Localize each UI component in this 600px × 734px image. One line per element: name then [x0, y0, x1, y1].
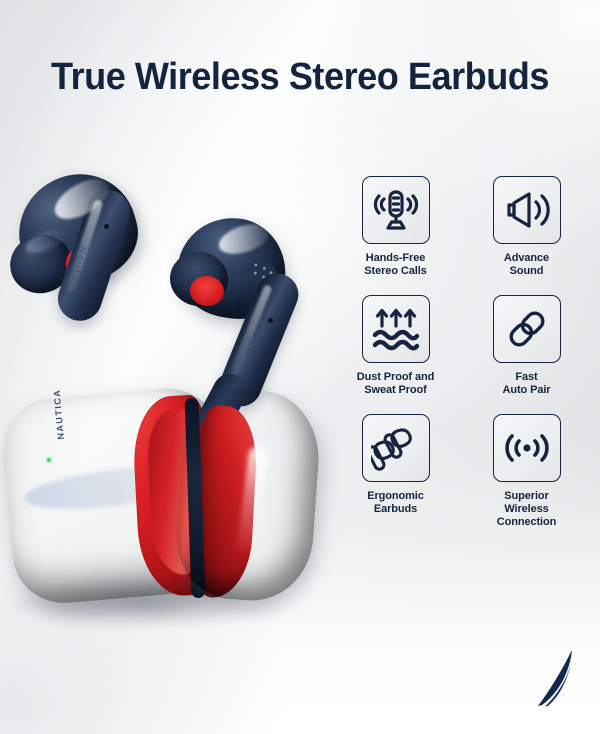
- feature-label-line2: Sound: [504, 265, 549, 278]
- feature-row-1: Hands-Free Stereo Calls: [330, 176, 592, 278]
- page-title: True Wireless Stereo Earbuds: [15, 54, 585, 100]
- feature-icon-tile: [493, 414, 561, 482]
- feature-superior-wireless-connection: Superior Wireless Connection: [461, 414, 592, 529]
- microphone-sound-waves-icon: [371, 185, 421, 235]
- feature-dust-proof-sweat-proof: Dust Proof and Sweat Proof: [330, 295, 461, 397]
- feature-ergonomic-earbuds: Ergonomic Earbuds: [330, 414, 461, 529]
- chain-link-icon: [502, 304, 552, 354]
- feature-icon-tile: [362, 295, 430, 363]
- earbud-right-mic-hole: [268, 318, 273, 323]
- feature-label-line2: Wireless: [497, 503, 557, 516]
- feature-label-line2: Auto Pair: [503, 384, 551, 397]
- feature-label: Dust Proof and Sweat Proof: [357, 371, 434, 397]
- earbud-left-mic-hole: [104, 224, 109, 229]
- nautica-sail-logo: [520, 648, 582, 712]
- feature-label: Superior Wireless Connection: [497, 490, 557, 529]
- feature-label-line1: Ergonomic: [367, 490, 424, 503]
- feature-label-line1: Superior: [497, 490, 557, 503]
- feature-label: Advance Sound: [504, 252, 549, 278]
- feature-label-line3: Connection: [497, 516, 557, 529]
- arrows-over-waves-icon: [371, 304, 421, 354]
- feature-hands-free-stereo-calls: Hands-Free Stereo Calls: [330, 176, 461, 278]
- feature-label-line1: Fast: [503, 371, 551, 384]
- feature-fast-auto-pair: Fast Auto Pair: [461, 295, 592, 397]
- feature-label-line2: Earbuds: [367, 503, 424, 516]
- feature-label: Ergonomic Earbuds: [367, 490, 424, 516]
- feature-grid: Hands-Free Stereo Calls: [330, 176, 592, 529]
- feature-icon-tile: [362, 414, 430, 482]
- feature-row-2: Dust Proof and Sweat Proof: [330, 295, 592, 397]
- feature-label-line1: Dust Proof and: [357, 371, 434, 384]
- product-image: NAUTICA NAUTICA NAUTICA: [0, 140, 340, 660]
- feature-advance-sound: Advance Sound: [461, 176, 592, 278]
- speaker-volume-icon: [502, 185, 552, 235]
- feature-icon-tile: [362, 176, 430, 244]
- product-feature-banner: True Wireless Stereo Earbuds NAUTICA NAU…: [0, 0, 600, 734]
- feature-label-line1: Advance: [504, 252, 549, 265]
- feature-label-line1: Hands-Free: [364, 252, 426, 265]
- feature-label-line2: Stereo Calls: [364, 265, 426, 278]
- wireless-signal-icon: [502, 423, 552, 473]
- feature-label: Hands-Free Stereo Calls: [364, 252, 426, 278]
- feature-label: Fast Auto Pair: [503, 371, 551, 397]
- feature-icon-tile: [493, 176, 561, 244]
- feature-label-line2: Sweat Proof: [357, 384, 434, 397]
- feature-row-3: Ergonomic Earbuds: [330, 414, 592, 529]
- feature-icon-tile: [493, 295, 561, 363]
- charging-case-led-indicator: [47, 458, 51, 462]
- earbuds-pair-icon: [371, 423, 421, 473]
